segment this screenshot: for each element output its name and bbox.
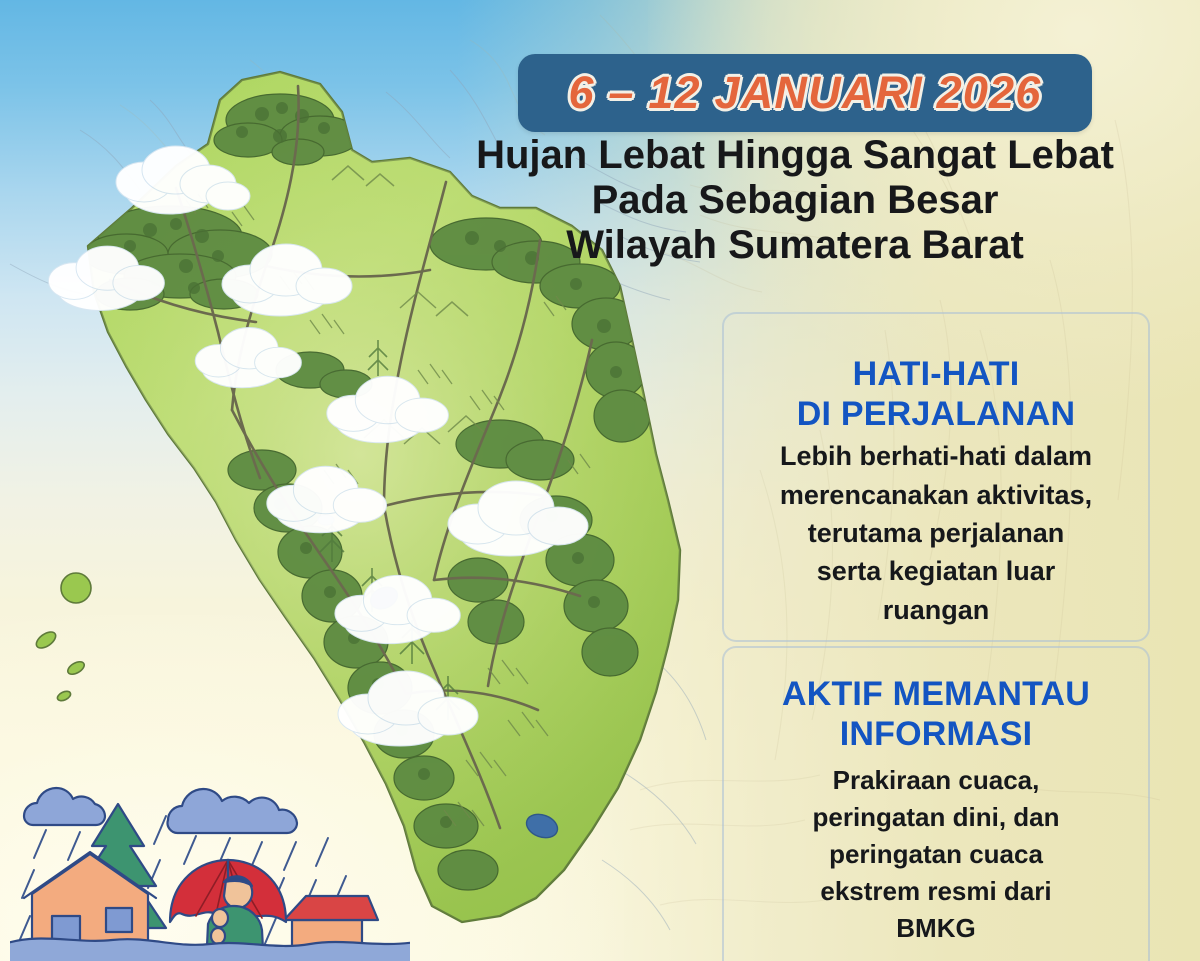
- advice-card-aktif-memantau-title: AKTIF MEMANTAU INFORMASI: [738, 674, 1134, 754]
- aktif-body-line-1: Prakiraan cuaca,: [738, 762, 1134, 799]
- advice-card-hati-hati-body: Lebih berhati-hati dalam merencanakan ak…: [738, 437, 1134, 629]
- aktif-body-line-4: ekstrem resmi dari: [738, 873, 1134, 910]
- hati-body-line-4: serta kegiatan luar: [738, 552, 1134, 590]
- rain-cloud-left: [24, 788, 105, 825]
- aktif-body-line-3: peringatan cuaca: [738, 836, 1134, 873]
- rain-flood-illustration: [10, 768, 410, 961]
- aktif-title-line-2: INFORMASI: [738, 714, 1134, 754]
- weather-infographic-poster: 6 – 12 JANUARI 2026 Hujan Lebat Hingga S…: [0, 0, 1200, 961]
- hati-title-line-2: DI PERJALANAN: [738, 394, 1134, 434]
- aktif-body-line-5: BMKG: [738, 910, 1134, 947]
- headline-line-3: Wilayah Sumatera Barat: [420, 223, 1170, 268]
- date-range-text: 6 – 12 JANUARI 2026: [568, 67, 1041, 119]
- advice-card-hati-hati: HATI-HATI DI PERJALANAN Lebih berhati-ha…: [722, 312, 1150, 642]
- aktif-body-line-2: peringatan dini, dan: [738, 799, 1134, 836]
- advice-card-hati-hati-title: HATI-HATI DI PERJALANAN: [738, 354, 1134, 434]
- hati-body-line-3: terutama perjalanan: [738, 514, 1134, 552]
- page-title: Hujan Lebat Hingga Sangat Lebat Pada Seb…: [420, 133, 1170, 267]
- hati-title-line-1: HATI-HATI: [738, 354, 1134, 394]
- advice-card-aktif-memantau: AKTIF MEMANTAU INFORMASI Prakiraan cuaca…: [722, 646, 1150, 961]
- aktif-title-line-1: AKTIF MEMANTAU: [738, 674, 1134, 714]
- hati-body-line-2: merencanakan aktivitas,: [738, 476, 1134, 514]
- headline-line-2: Pada Sebagian Besar: [420, 178, 1170, 223]
- map-offshore-islands: [34, 573, 91, 703]
- advice-card-aktif-memantau-body: Prakiraan cuaca, peringatan dini, dan pe…: [738, 762, 1134, 947]
- hati-body-line-1: Lebih berhati-hati dalam: [738, 437, 1134, 475]
- rain-cloud-right: [168, 789, 297, 833]
- hati-body-line-5: ruangan: [738, 591, 1134, 629]
- date-range-banner: 6 – 12 JANUARI 2026: [518, 54, 1092, 132]
- headline-line-1: Hujan Lebat Hingga Sangat Lebat: [420, 133, 1170, 178]
